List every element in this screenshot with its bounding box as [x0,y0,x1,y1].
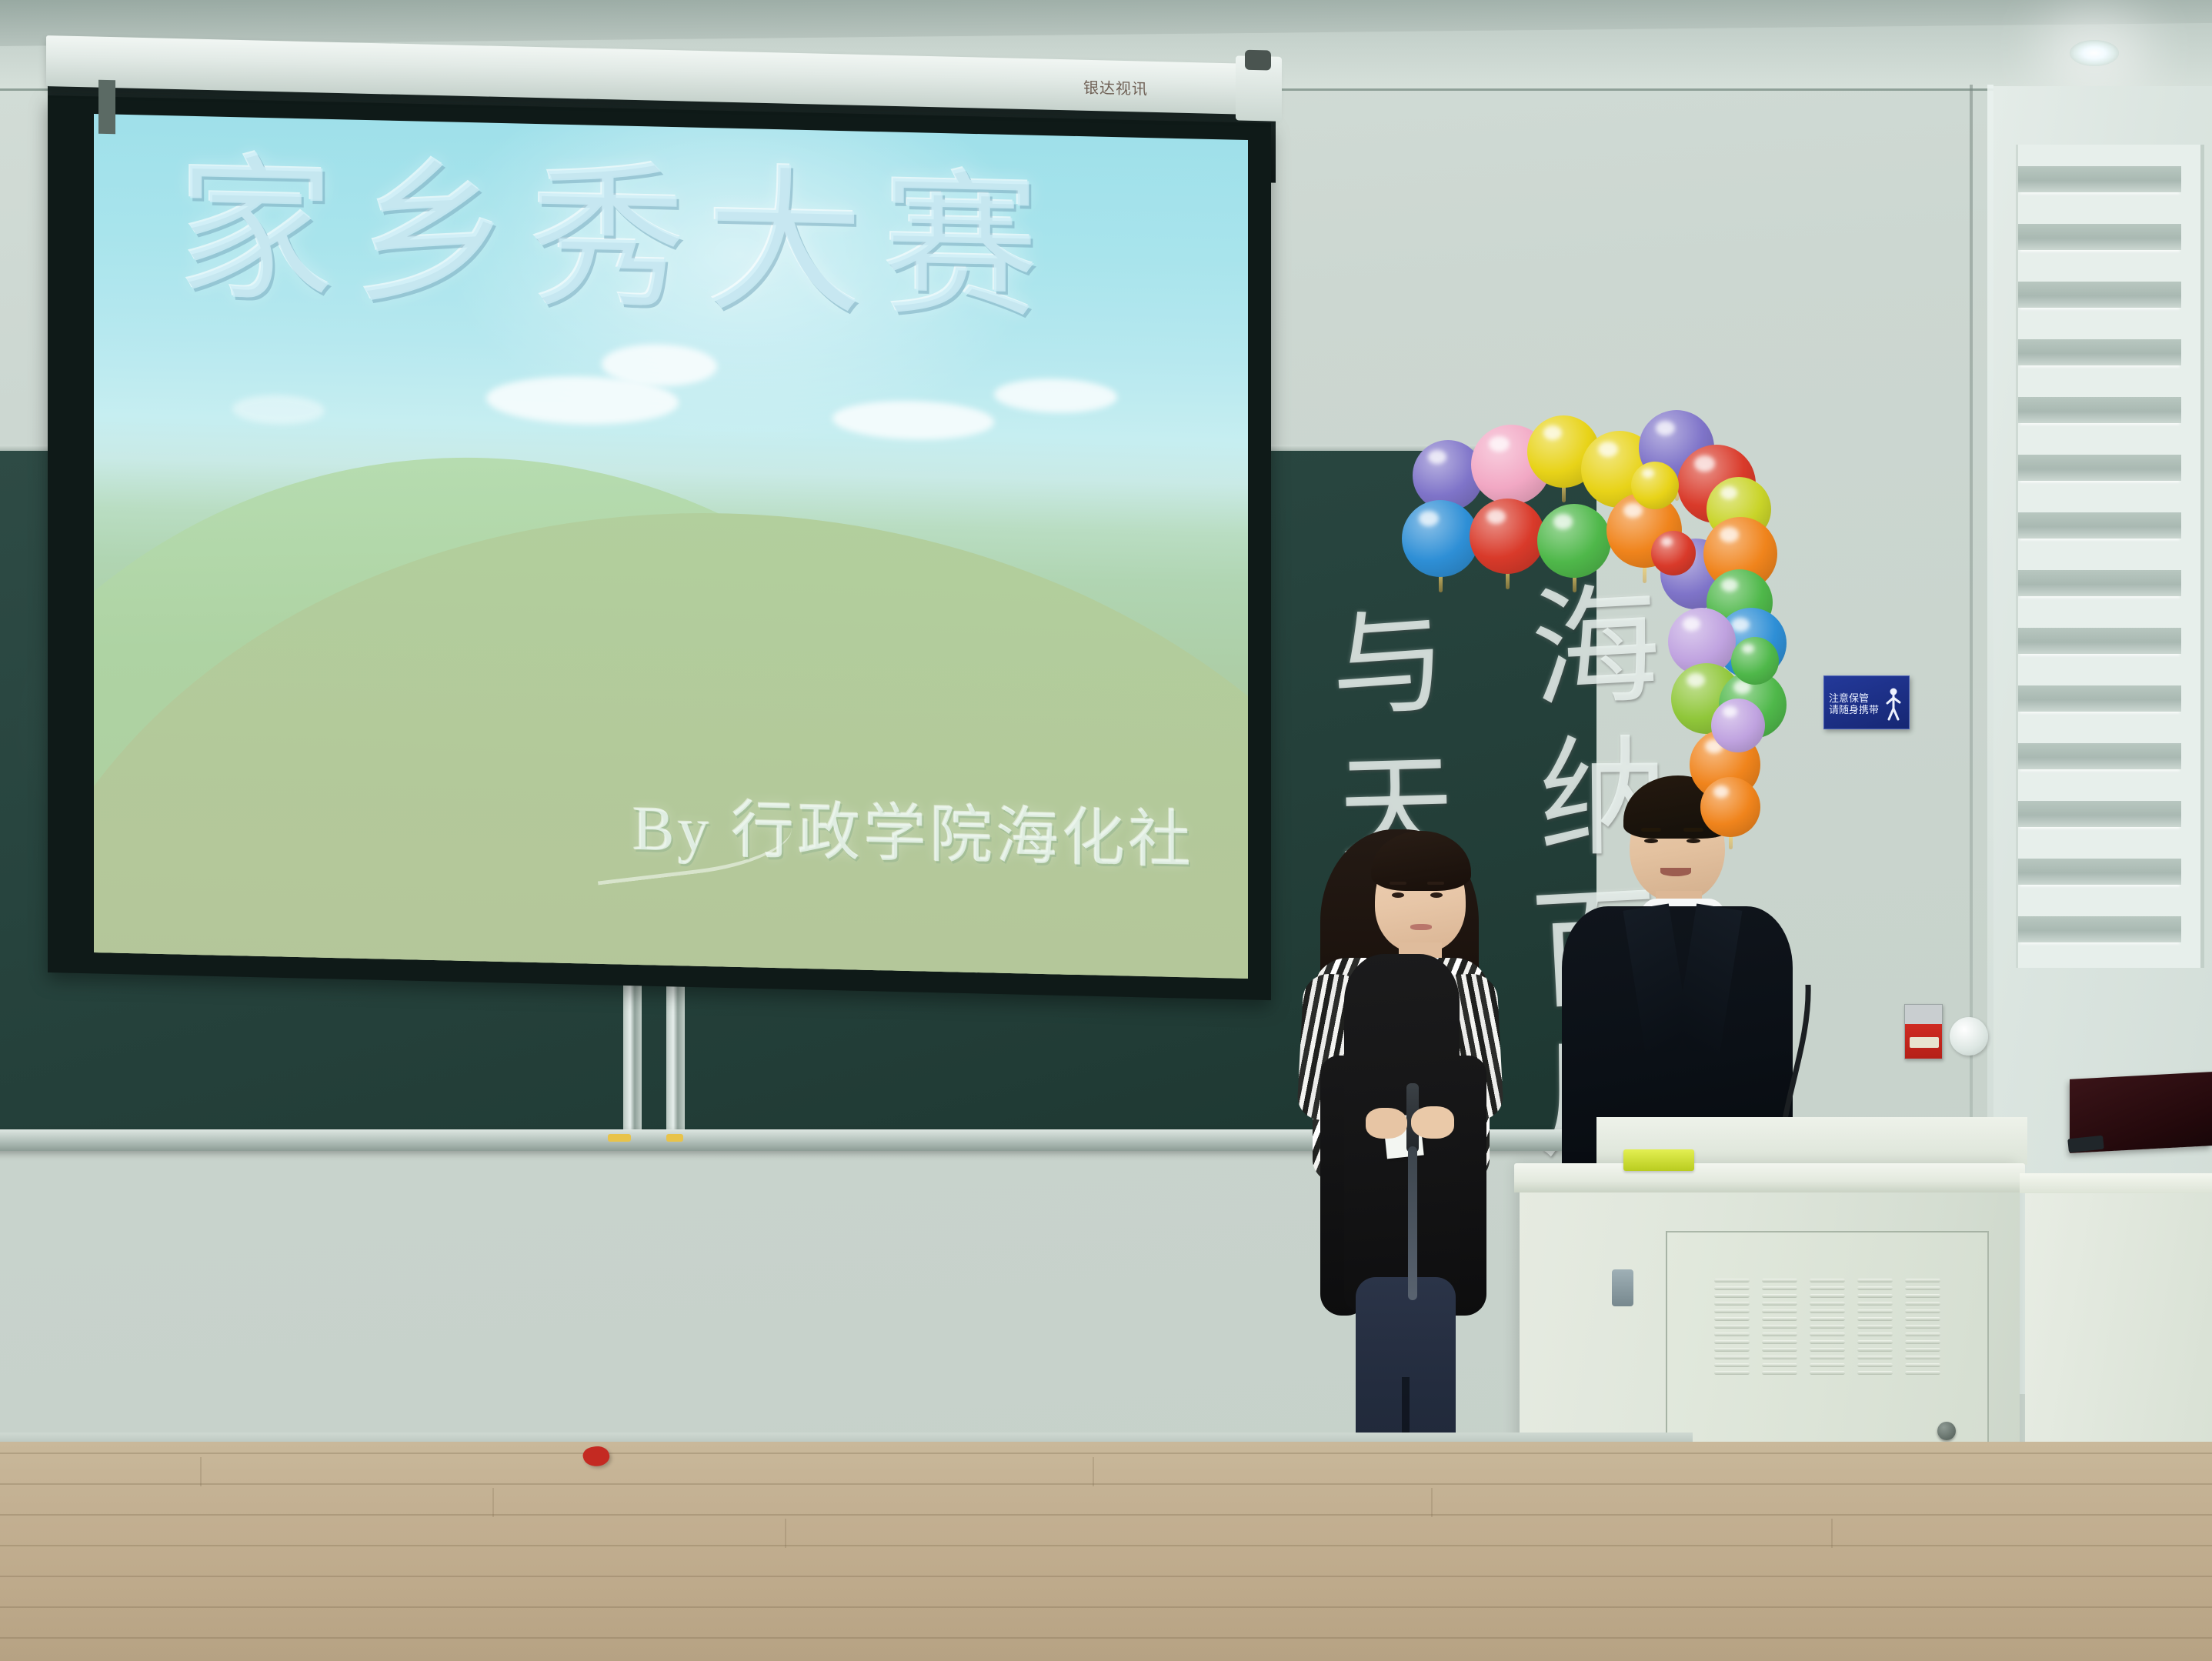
female-eye [1392,892,1404,898]
chalk-stick[interactable] [666,1134,683,1142]
male-eye [1687,839,1700,843]
vent-slat [2018,282,2181,308]
louver-slot [1905,1348,1940,1352]
louver-slot [1857,1325,1893,1329]
balloon [1537,504,1611,578]
balloon [1631,462,1679,509]
louver-slot [1762,1286,1797,1290]
fire-alarm-label [1910,1037,1939,1048]
podium-power-plug[interactable] [1612,1269,1633,1306]
louver-slot [1905,1332,1940,1336]
podium-lock-icon[interactable] [1937,1422,1956,1440]
wood-floor [0,1442,2212,1661]
floor-plank-line [0,1606,2212,1608]
vent-slat [2018,859,2181,885]
louver-slot [1905,1279,1940,1282]
louver-slot [1714,1279,1750,1282]
female-eye [1430,892,1443,898]
slide-credit: By 行政学院海化社 [632,776,1194,881]
slide-cloud [232,394,325,425]
louver-slot [1905,1340,1940,1344]
screen-roller-knob[interactable] [1245,50,1271,71]
male-eyebrow [1641,828,1661,832]
balloon [1731,637,1779,685]
louver-slot [1857,1309,1893,1313]
floor-plank-seam [1831,1519,1833,1548]
louver-slot [1762,1363,1797,1367]
safety-sign-line1: 注意保管 [1829,693,1880,705]
louver-slot [1762,1309,1797,1313]
louver-slot [1810,1356,1845,1359]
louver-slot [1857,1294,1893,1298]
balloon [1651,531,1696,575]
louver-slot [1905,1363,1940,1367]
louver-slot [1857,1279,1893,1282]
louver-slot [1857,1348,1893,1352]
louver-slot [1714,1363,1750,1367]
female-eyebrow [1427,882,1444,885]
male-eye [1644,839,1658,843]
louver-slot [1810,1317,1845,1321]
floor-plank-line [0,1453,2212,1454]
vent-slat [2018,512,2181,539]
louver-slot [1714,1356,1750,1359]
louver-slot [1762,1294,1797,1298]
louver-slot [1905,1356,1940,1359]
vent-slat [2018,397,2181,423]
louver-slot [1810,1348,1845,1352]
louver-slot [1905,1317,1940,1321]
balloon [1402,500,1479,577]
chalk-character: 与 [1327,604,1450,727]
louver-slot [1714,1317,1750,1321]
louver-slot [1905,1286,1940,1290]
louver-slot [1810,1309,1845,1313]
female-eyebrow [1390,882,1406,885]
louver-slot [1905,1302,1940,1306]
louver-slot [1810,1279,1845,1282]
louver-slot [1714,1340,1750,1344]
louver-slot [1762,1348,1797,1352]
louver-slot [1714,1286,1750,1290]
louver-slot [1857,1286,1893,1290]
louver-slot [1762,1325,1797,1329]
person-pictogram-icon [1884,687,1903,721]
vent-slat [2018,455,2181,481]
vent-slat [2018,628,2181,654]
male-mouth [1660,868,1691,876]
louver-slot [1762,1317,1797,1321]
louver-slot [1810,1332,1845,1336]
floor-plank-seam [492,1488,494,1517]
side-table-top [2020,1173,2212,1193]
floor-plank-seam [1431,1488,1433,1517]
louver-slot [1714,1309,1750,1313]
louver-slot [1857,1363,1893,1367]
louver-slot [1857,1317,1893,1321]
balloon [1700,777,1760,837]
podium-top-surface [1514,1163,2025,1192]
louver-slot [1857,1371,1893,1375]
female-mouth [1410,924,1432,930]
louver-slot [1810,1340,1845,1344]
classroom-scene: 注意保管 请随身携带 与天同海纳百川 家乡秀大赛 By 行政学院海化社 [0,0,2212,1661]
louver-slot [1762,1332,1797,1336]
vent-slat [2018,339,2181,365]
louver-slot [1762,1340,1797,1344]
safety-notice-sign: 注意保管 请随身携带 [1823,675,1910,729]
yellow-card[interactable] [1623,1149,1694,1171]
screen-brand-label: 银达视讯 [1083,75,1148,99]
fire-alarm-pull-station[interactable] [1904,1004,1943,1059]
vent-slat [2018,570,2181,596]
floor-plank-line [0,1514,2212,1516]
alarm-strobe-icon [1950,1017,1988,1056]
louver-slot [1857,1356,1893,1359]
floor-plank-seam [1093,1457,1094,1486]
vent-slat [2018,224,2181,250]
male-eyebrow [1683,828,1703,832]
female-hand [1411,1106,1454,1139]
louver-slot [1905,1325,1940,1329]
louver-slot [1714,1332,1750,1336]
projection-screen-surface: 家乡秀大赛 By 行政学院海化社 [94,114,1248,979]
louver-slot [1810,1371,1845,1375]
vent-slat [2018,801,2181,827]
louver-slot [1905,1371,1940,1375]
louver-slot [1762,1302,1797,1306]
louver-slot [1714,1325,1750,1329]
louver-slot [1857,1332,1893,1336]
microphone-cord [1408,1146,1417,1300]
louver-slot [1762,1371,1797,1375]
vent-slat [2018,685,2181,712]
floor-plank-line [0,1576,2212,1577]
screen-mount-bracket [98,80,115,135]
floor-plank-line [0,1483,2212,1485]
floor-plank-line [0,1637,2212,1639]
louvered-air-vent [2016,145,2204,968]
balloon [1711,699,1765,752]
vent-slat [2018,166,2181,192]
female-hand [1366,1108,1407,1139]
louver-slot [1714,1302,1750,1306]
floor-plank-seam [200,1457,202,1486]
ceiling-light-icon [2070,40,2119,66]
louver-slot [1762,1279,1797,1282]
safety-sign-line2: 请随身携带 [1829,705,1880,716]
louver-slot [1714,1348,1750,1352]
floor-plank-line [0,1545,2212,1546]
louver-slot [1714,1371,1750,1375]
louver-slot [1905,1294,1940,1298]
louver-slot [1810,1363,1845,1367]
vent-slat [2018,916,2181,942]
chalk-stick[interactable] [608,1134,631,1142]
louver-slot [1810,1325,1845,1329]
louver-slot [1857,1340,1893,1344]
louver-slot [1810,1302,1845,1306]
louver-slot [1810,1294,1845,1298]
louver-slot [1857,1302,1893,1306]
louver-slot [1810,1286,1845,1290]
chalk-character: 海 [1528,582,1664,718]
floor-plank-seam [785,1519,786,1548]
louver-slot [1714,1294,1750,1298]
slide-title: 家乡秀大赛 [177,148,1085,334]
louver-slot [1762,1356,1797,1359]
louver-slot [1905,1309,1940,1313]
vent-slat [2018,743,2181,769]
balloon [1470,499,1545,574]
